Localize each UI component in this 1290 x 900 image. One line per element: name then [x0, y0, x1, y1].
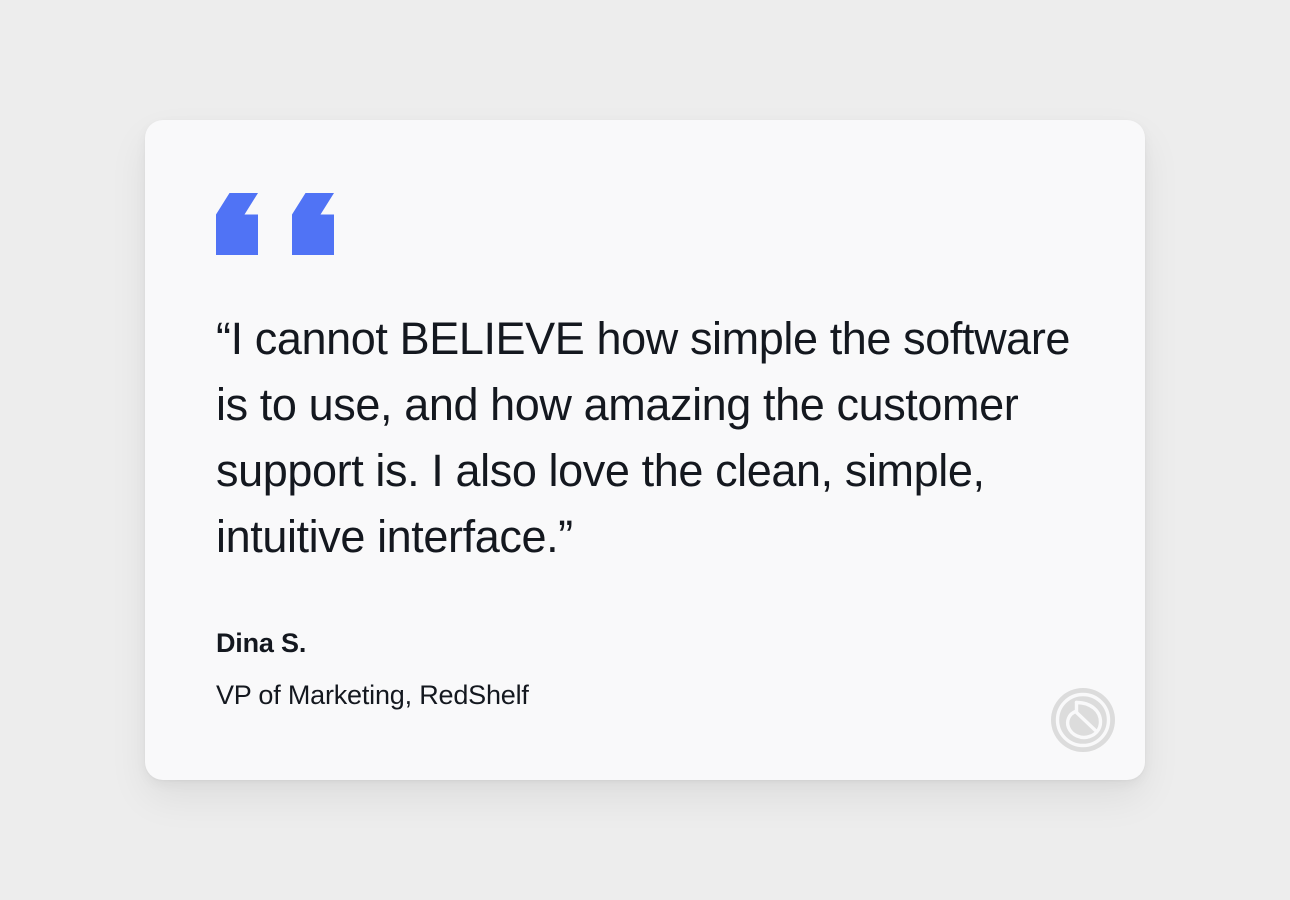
author-name: Dina S. — [216, 625, 916, 661]
quote-text: “I cannot BELIEVE how simple the softwar… — [216, 306, 1078, 570]
author-role: VP of Marketing, RedShelf — [216, 677, 916, 713]
company-monogram-logo-icon — [1051, 688, 1115, 752]
page-root: “I cannot BELIEVE how simple the softwar… — [0, 0, 1290, 900]
testimonial-card: “I cannot BELIEVE how simple the softwar… — [145, 120, 1145, 780]
attribution: Dina S. VP of Marketing, RedShelf — [216, 625, 916, 713]
double-quote-open-icon — [216, 193, 334, 255]
